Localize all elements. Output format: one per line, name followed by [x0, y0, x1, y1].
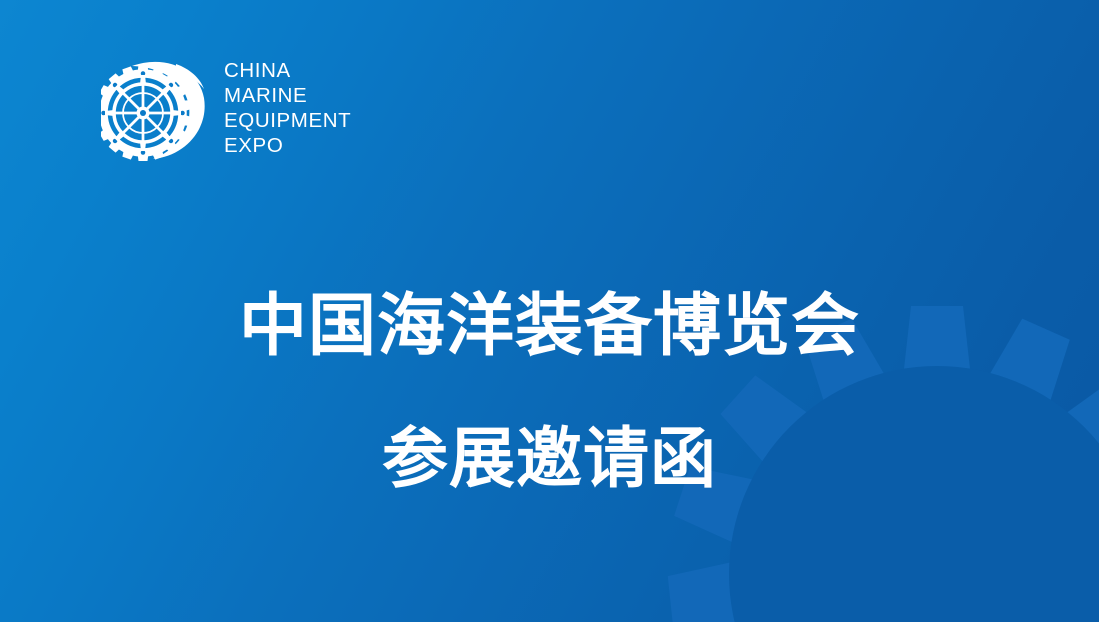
logo-wordmark-line-4: EXPO [224, 133, 351, 158]
headline-block: 中国海洋装备博览会 参展邀请函 [0, 291, 1099, 492]
page-title: 中国海洋装备博览会 [0, 291, 1099, 362]
logo-wordmark-line-1: CHINA [224, 58, 351, 83]
invitation-cover-slide: CHINA MARINE EQUIPMENT EXPO 中国海洋装备博览会 参展… [0, 0, 1099, 622]
logo-wordmark-line-3: EQUIPMENT [224, 108, 351, 133]
logo-wordmark: CHINA MARINE EQUIPMENT EXPO [224, 58, 351, 158]
logo-wordmark-line-2: MARINE [224, 83, 351, 108]
logo-lockup: CHINA MARINE EQUIPMENT EXPO [101, 52, 351, 164]
ship-helm-in-gear-with-crescent-swoosh-icon [101, 52, 209, 164]
page-subtitle: 参展邀请函 [0, 424, 1099, 493]
